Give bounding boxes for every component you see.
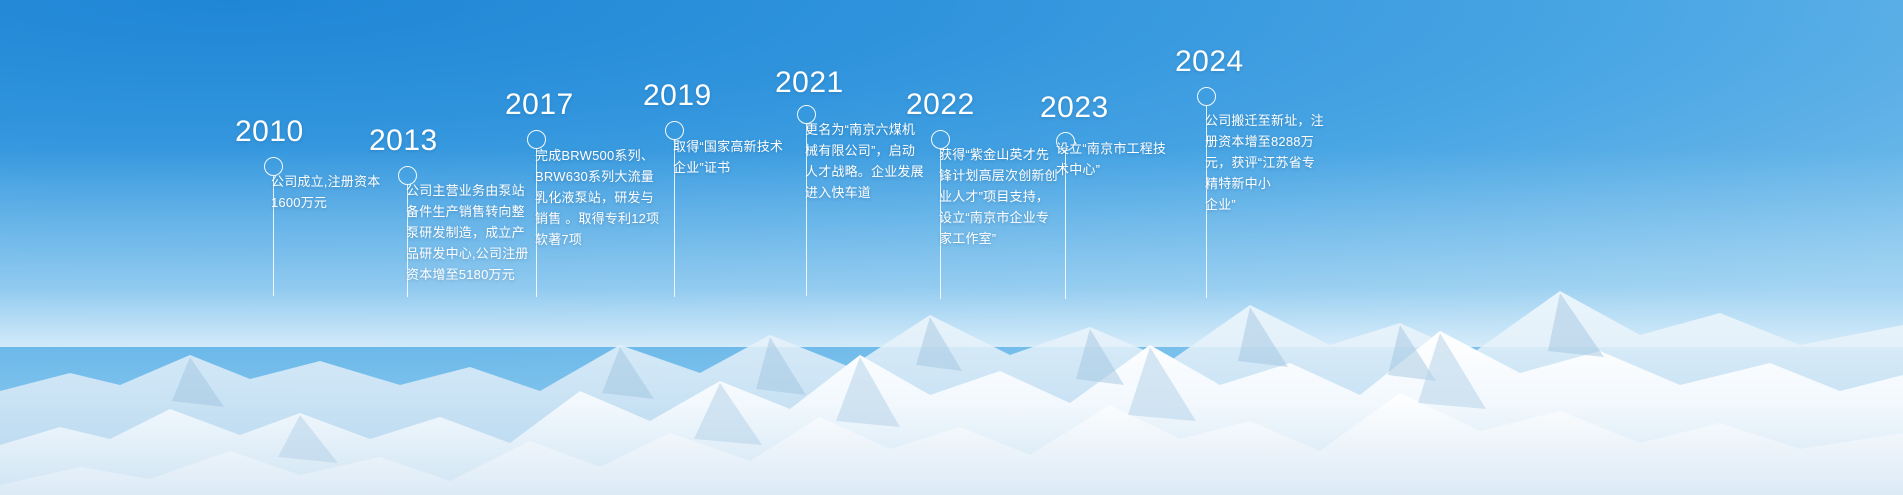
milestone-description: 公司主营业务由泵站备件生产销售转向整泵研发制造，成立产品研发中心,公司注册资本增… xyxy=(406,180,529,285)
milestone-year-label: 2024 xyxy=(1175,47,1244,77)
milestone-year-label: 2023 xyxy=(1040,93,1109,123)
milestone-year-label: 2013 xyxy=(369,126,438,156)
milestone-description: 更名为“南京六煤机械有限公司”，启动人才战略。企业发展进入快车道 xyxy=(805,119,924,203)
milestone-year-label: 2010 xyxy=(235,117,304,147)
milestone-year-label: 2021 xyxy=(775,68,844,98)
milestone-description: 公司搬迁至新址，注册资本增至8288万元，获评“江苏省专精特新中小企业” xyxy=(1205,110,1324,215)
milestone-year-label: 2022 xyxy=(906,90,975,120)
milestone-description: 取得“国家高新技术企业”证书 xyxy=(673,136,783,178)
milestone-year-label: 2017 xyxy=(505,90,574,120)
milestone-description: 公司成立,注册资本1600万元 xyxy=(271,171,380,213)
milestone-description: 设立“南京市工程技术中心” xyxy=(1056,138,1166,180)
milestone-year-label: 2019 xyxy=(643,81,712,111)
milestone-description: 获得“紫金山英才先锋计划高层次创新创业人才”项目支持，设立“南京市企业专家工作室… xyxy=(939,144,1058,249)
timeline-infographic: 2010 公司成立,注册资本1600万元 2013 公司主营业务由泵站备件生产销… xyxy=(0,0,1903,495)
milestone-description: 完成BRW500系列、BRW630系列大流量乳化液泵站，研发与销售 。取得专利1… xyxy=(535,145,659,250)
milestone-timeline: 2010 公司成立,注册资本1600万元 2013 公司主营业务由泵站备件生产销… xyxy=(0,0,1903,495)
